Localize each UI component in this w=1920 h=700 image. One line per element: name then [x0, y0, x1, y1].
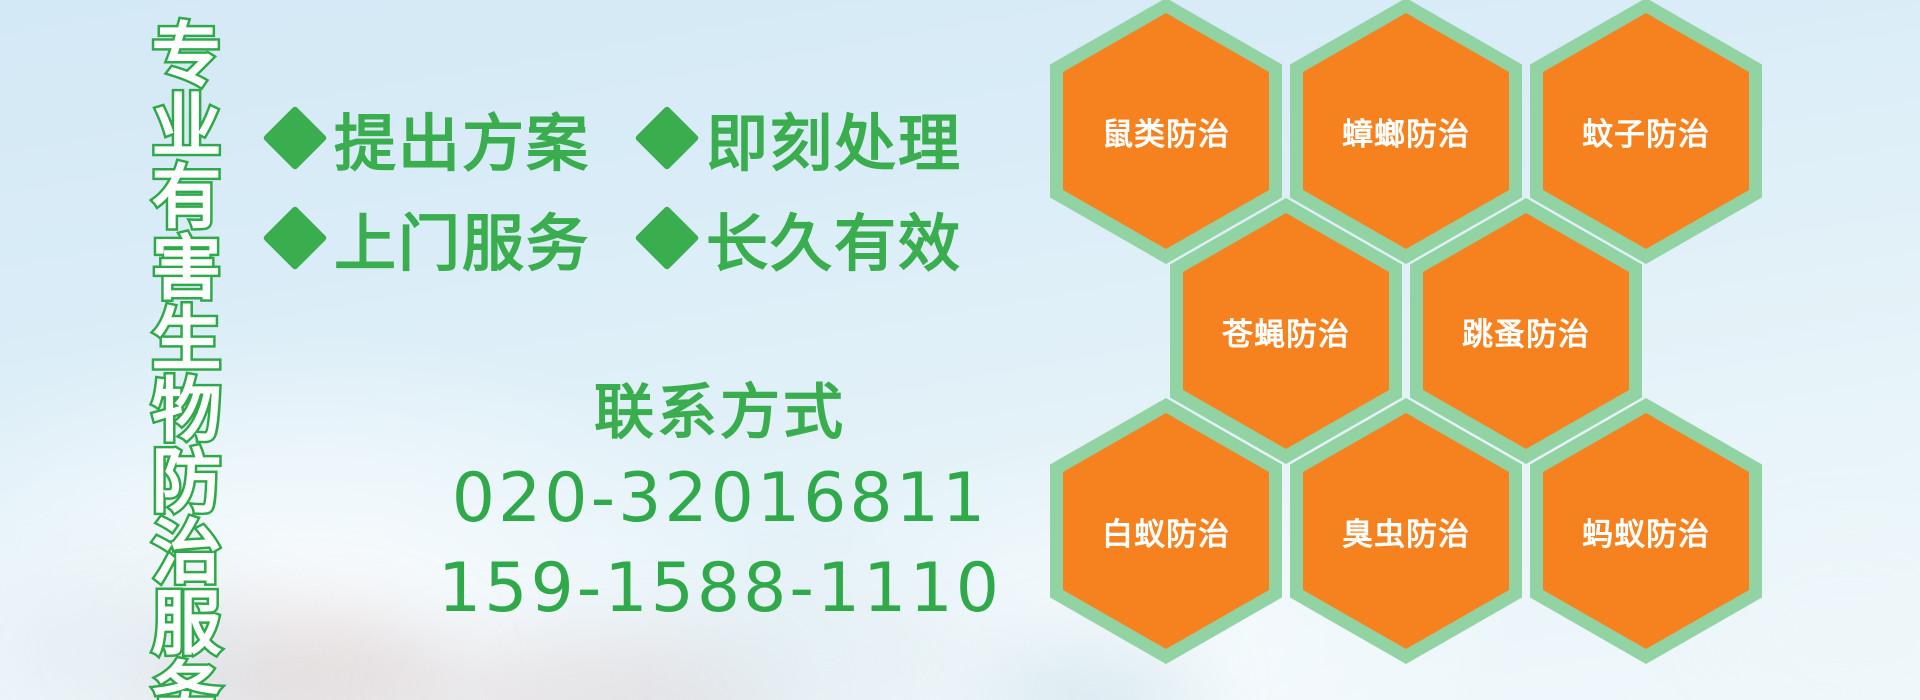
feature-row: 上门服务 长久有效 [272, 188, 1072, 288]
service-hex-label: 蚊子防治 [1582, 109, 1710, 154]
feature-item-immediate-treatment: 即刻处理 [644, 93, 962, 183]
contact-phone-landline[interactable]: 020-32016811 [390, 454, 1050, 544]
contact-block: 联系方式 020-32016811 159-1588-1110 [390, 380, 1050, 634]
feature-item-onsite-service: 上门服务 [272, 193, 590, 283]
contact-phone-mobile[interactable]: 159-1588-1110 [390, 544, 1050, 634]
service-hex-inner: 跳蚤防治 [1423, 213, 1629, 449]
service-hex-inner: 蚂蚁防治 [1543, 413, 1749, 649]
service-hex-label: 蟑螂防治 [1342, 109, 1470, 154]
diamond-bullet-icon [262, 105, 327, 170]
background-blur-blob [420, 640, 780, 700]
service-hex-label: 臭虫防治 [1342, 509, 1470, 554]
feature-row: 提出方案 即刻处理 [272, 88, 1072, 188]
feature-label: 提出方案 [334, 93, 590, 183]
service-hex-label: 跳蚤防治 [1462, 309, 1590, 354]
service-hex-inner: 蟑螂防治 [1303, 13, 1509, 249]
vertical-headline: 专业有害生物防治服务 [112, 18, 216, 678]
service-hex-inner: 臭虫防治 [1303, 413, 1509, 649]
pest-control-banner: 专业有害生物防治服务 提出方案 即刻处理 上门服务 长久有效 [0, 0, 1920, 700]
service-hex-label: 蚂蚁防治 [1582, 509, 1710, 554]
service-hex-inner: 鼠类防治 [1063, 13, 1269, 249]
service-hex-inner: 白蚁防治 [1063, 413, 1269, 649]
feature-list: 提出方案 即刻处理 上门服务 长久有效 [272, 88, 1072, 288]
service-hex-label: 苍蝇防治 [1222, 309, 1350, 354]
service-hex-inner: 苍蝇防治 [1183, 213, 1389, 449]
feature-item-propose-plan: 提出方案 [272, 93, 590, 183]
feature-item-long-lasting: 长久有效 [644, 193, 962, 283]
contact-title: 联系方式 [390, 380, 1050, 446]
service-hex-inner: 蚊子防治 [1543, 13, 1749, 249]
diamond-bullet-icon [262, 205, 327, 270]
feature-label: 长久有效 [706, 193, 962, 283]
service-hex-label: 鼠类防治 [1102, 109, 1230, 154]
feature-label: 即刻处理 [706, 93, 962, 183]
service-hex-label: 白蚁防治 [1102, 509, 1230, 554]
diamond-bullet-icon [634, 205, 699, 270]
diamond-bullet-icon [634, 105, 699, 170]
service-hexagon-grid: 鼠类防治 蟑螂防治 蚊子防治 苍蝇防治 跳蚤防治 白蚁防治 [1050, 0, 1890, 700]
feature-label: 上门服务 [334, 193, 590, 283]
